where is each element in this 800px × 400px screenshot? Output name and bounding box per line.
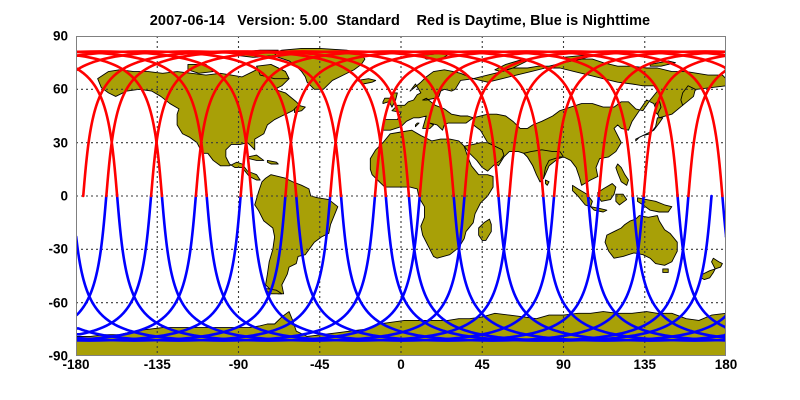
y-tick-label: 60 [53,82,68,97]
x-tick-label: -180 [62,357,89,372]
y-tick-label: -60 [48,295,68,310]
x-tick-label: 90 [556,357,571,372]
landmass-tasmania [663,269,668,273]
y-tick-label: 30 [53,135,68,150]
x-tick-label: 135 [633,357,656,372]
x-tick-label: 45 [475,357,490,372]
x-tick-label: 0 [397,357,405,372]
y-tick-label: -30 [48,242,68,257]
map-canvas [76,36,726,356]
x-tick-label: -45 [310,357,330,372]
x-tick-label: -90 [229,357,249,372]
figure-title: 2007-06-14 Version: 5.00 Standard Red is… [0,13,800,29]
ground-track-figure: 2007-06-14 Version: 5.00 Standard Red is… [0,0,800,400]
x-tick-label: 180 [715,357,738,372]
plot-area [76,36,726,356]
y-tick-label: 0 [60,189,68,204]
x-tick-label: -135 [144,357,171,372]
y-tick-label: 90 [53,29,68,44]
